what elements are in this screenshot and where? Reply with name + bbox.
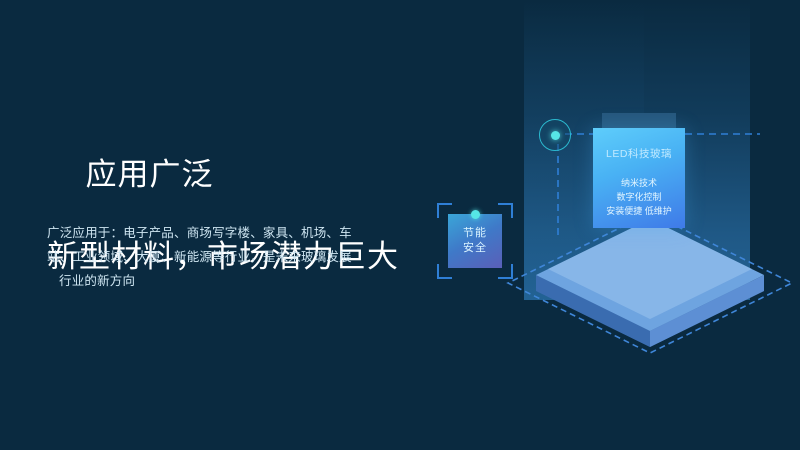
body-line-1: 广泛应用于：电子产品、商场写字楼、家具、机场、车 xyxy=(47,221,377,245)
badge-anchor-dot xyxy=(471,210,480,219)
node-core-dot xyxy=(551,131,560,140)
panel-title: LED科技玻璃 xyxy=(593,146,685,161)
badge-label-1: 节能 xyxy=(463,226,487,241)
panel-feature-1: 纳米技术 xyxy=(593,176,685,190)
body-paragraph: 广泛应用于：电子产品、商场写字楼、家具、机场、车 站、工业领域、大厦、新能源等行… xyxy=(47,221,377,293)
badge-label-2: 安全 xyxy=(463,241,487,256)
badge-body: 节能 安全 xyxy=(448,214,502,268)
panel-feature-2: 数字化控制 xyxy=(593,190,685,204)
led-glass-panel[interactable]: LED科技玻璃 纳米技术 数字化控制 安装便捷 低维护 xyxy=(593,128,685,228)
headline-line-1: 应用广泛 xyxy=(85,157,213,192)
slide-canvas: 应用广泛 新型材料，市场潜力巨大 广泛应用于：电子产品、商场写字楼、家具、机场、… xyxy=(0,0,800,450)
body-line-3: 行业的新方向 xyxy=(47,269,377,293)
panel-feature-list: 纳米技术 数字化控制 安装便捷 低维护 xyxy=(593,176,685,218)
body-line-2: 站、工业领域、大厦、新能源等行业，是未来玻璃发展 xyxy=(47,245,377,269)
node-marker-icon xyxy=(539,119,571,151)
panel-feature-3: 安装便捷 低维护 xyxy=(593,204,685,218)
